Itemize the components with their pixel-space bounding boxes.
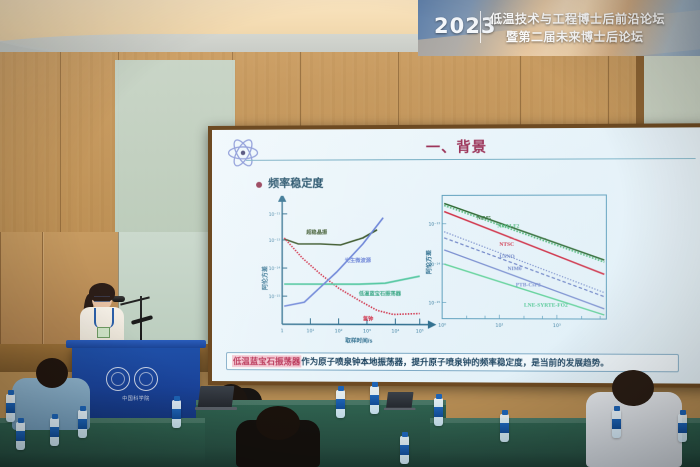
svg-text:1: 1 bbox=[281, 328, 284, 334]
caption-highlight: 低温蓝宝石振荡器 bbox=[232, 355, 301, 367]
water-bottle bbox=[612, 410, 621, 438]
svg-text:10⁻¹⁵: 10⁻¹⁵ bbox=[269, 294, 281, 300]
water-bottle bbox=[434, 398, 443, 426]
svg-text:PTB-CsF2: PTB-CsF2 bbox=[516, 282, 541, 288]
svg-text:10⁻¹¹: 10⁻¹¹ bbox=[269, 212, 281, 218]
svg-text:光生微波源: 光生微波源 bbox=[344, 256, 372, 264]
svg-text:10⁰: 10⁰ bbox=[438, 323, 446, 329]
svg-text:USNO: USNO bbox=[499, 254, 514, 260]
svg-text:阿伦方差: 阿伦方差 bbox=[261, 266, 269, 290]
svg-text:NIM6: NIM6 bbox=[508, 266, 522, 272]
banner-line-2: 暨第二届未来博士后论坛 bbox=[506, 28, 644, 45]
svg-text:NMIJ-F2: NMIJ-F2 bbox=[497, 224, 519, 230]
svg-text:10⁵: 10⁵ bbox=[416, 329, 424, 335]
water-bottle bbox=[16, 422, 25, 450]
chart-left-frequency-stability: 1 10¹ 10² 10³ 10⁴ 10⁵ 10⁻¹¹ 10⁻¹³ bbox=[258, 195, 438, 344]
lanyard bbox=[94, 308, 114, 328]
slide-caption: 低温蓝宝石振荡器作为原子喷泉钟本地振荡器，提升原子喷泉钟的频率稳定度，是当前的发… bbox=[226, 352, 679, 372]
svg-text:低温蓝宝石振荡器: 低温蓝宝石振荡器 bbox=[358, 289, 402, 297]
svg-text:10⁻¹⁴: 10⁻¹⁴ bbox=[269, 266, 281, 272]
bullet-dot-icon bbox=[256, 182, 262, 188]
water-bottle bbox=[172, 400, 181, 428]
svg-text:10¹: 10¹ bbox=[307, 328, 315, 334]
banner-divider bbox=[480, 11, 481, 43]
chart-right-fountain-clocks: 10⁰ 10² 10³ 10⁻¹³ 10⁻¹⁴ 10⁻¹⁵ 阿伦方差 bbox=[426, 191, 611, 342]
svg-text:氢钟: 氢钟 bbox=[363, 314, 374, 322]
presentation-slide: 一、背景 频率稳定度 bbox=[212, 127, 700, 383]
svg-text:LNE-SYRTE-FO2: LNE-SYRTE-FO2 bbox=[524, 303, 568, 309]
event-banner: 2023 低温技术与工程博士后前沿论坛 暨第二届未来博士后论坛 bbox=[418, 0, 700, 56]
screenshot-root: 2023 低温技术与工程博士后前沿论坛 暨第二届未来博士后论坛 一、背景 频率稳… bbox=[0, 0, 700, 467]
svg-text:10³: 10³ bbox=[553, 323, 561, 329]
svg-text:超稳晶振: 超稳晶振 bbox=[305, 228, 328, 236]
water-bottle bbox=[400, 436, 409, 464]
slide-bullet-text: 频率稳定度 bbox=[268, 175, 323, 191]
banner-year: 2023 bbox=[434, 14, 496, 38]
podium-top-edge bbox=[66, 340, 206, 348]
water-bottle bbox=[500, 414, 509, 442]
svg-text:NIM5: NIM5 bbox=[477, 216, 491, 222]
podium-logo-left bbox=[106, 367, 130, 391]
svg-text:取样时间/s: 取样时间/s bbox=[345, 336, 372, 344]
svg-text:10⁴: 10⁴ bbox=[391, 329, 399, 335]
water-bottle bbox=[6, 394, 15, 422]
water-bottle bbox=[336, 390, 345, 418]
laptop bbox=[195, 386, 235, 410]
svg-text:10⁻¹³: 10⁻¹³ bbox=[429, 222, 441, 228]
caption-rest: 作为原子喷泉钟本地振荡器，提升原子喷泉钟的频率稳定度，是当前的发展趋势。 bbox=[301, 355, 609, 369]
name-badge bbox=[97, 327, 110, 338]
slide-title: 一、背景 bbox=[212, 136, 700, 158]
title-divider bbox=[246, 158, 696, 161]
svg-text:10⁻¹⁵: 10⁻¹⁵ bbox=[429, 300, 441, 306]
projection-screen: 一、背景 频率稳定度 bbox=[208, 123, 700, 388]
svg-text:10²: 10² bbox=[335, 328, 343, 334]
water-bottle bbox=[370, 386, 379, 414]
svg-text:10⁻¹³: 10⁻¹³ bbox=[269, 238, 281, 244]
laptop-secondary bbox=[384, 392, 414, 410]
banner-line-1: 低温技术与工程博士后前沿论坛 bbox=[490, 10, 665, 27]
svg-text:阿伦方差: 阿伦方差 bbox=[426, 250, 433, 274]
podium-logo-right bbox=[134, 367, 158, 391]
svg-text:10³: 10³ bbox=[363, 328, 371, 334]
water-bottle bbox=[50, 418, 59, 446]
audience-member-foreground-center bbox=[236, 420, 320, 467]
water-bottle bbox=[678, 414, 687, 442]
svg-text:10²: 10² bbox=[495, 323, 503, 329]
svg-text:NTSC: NTSC bbox=[499, 242, 514, 248]
water-bottle bbox=[78, 410, 87, 438]
glasses-icon bbox=[94, 296, 110, 302]
audience-member-right-foreground bbox=[586, 392, 682, 467]
